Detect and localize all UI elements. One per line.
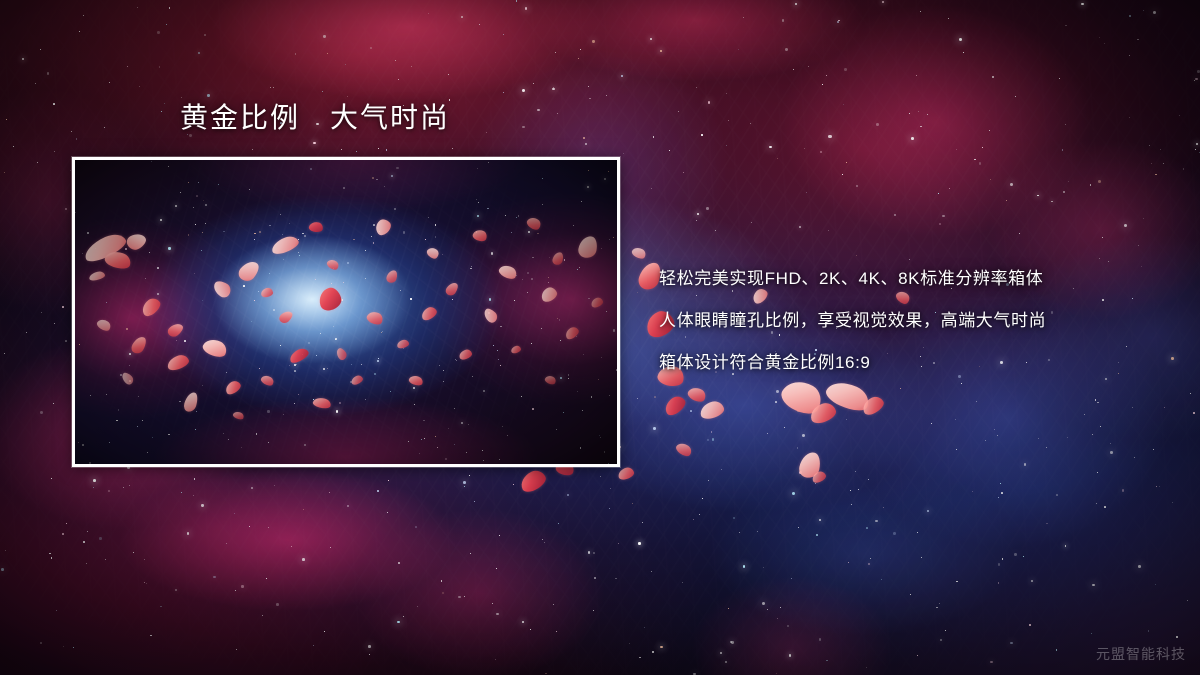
star xyxy=(791,578,792,579)
star xyxy=(936,607,937,608)
star xyxy=(777,158,778,159)
star xyxy=(329,492,330,493)
star xyxy=(989,130,990,131)
star xyxy=(398,79,399,80)
star xyxy=(730,641,733,644)
star xyxy=(637,398,638,399)
star xyxy=(368,645,371,648)
flower-petal xyxy=(811,470,828,485)
star xyxy=(955,419,956,420)
star xyxy=(1199,152,1200,153)
star xyxy=(415,526,417,528)
star xyxy=(777,618,778,619)
star xyxy=(621,75,623,77)
star xyxy=(1193,412,1195,414)
star xyxy=(76,138,77,139)
star xyxy=(1,568,4,571)
star xyxy=(1019,233,1020,234)
star xyxy=(1065,124,1066,125)
star xyxy=(567,494,569,496)
star xyxy=(708,480,709,481)
star xyxy=(71,131,72,132)
star xyxy=(553,604,554,605)
star xyxy=(5,550,6,551)
star xyxy=(1065,25,1066,26)
star xyxy=(378,148,379,149)
star xyxy=(1014,553,1017,556)
star xyxy=(693,519,694,520)
star xyxy=(236,649,237,650)
star xyxy=(715,230,716,231)
star xyxy=(51,478,52,479)
flower-petal xyxy=(860,394,886,418)
star xyxy=(804,148,805,149)
flower-petal xyxy=(517,467,548,495)
star xyxy=(54,323,55,324)
star xyxy=(939,603,940,604)
star xyxy=(738,49,739,50)
star xyxy=(697,213,699,215)
star xyxy=(592,40,594,42)
star xyxy=(731,641,733,643)
photo-vignette xyxy=(75,160,617,464)
star xyxy=(428,13,429,14)
star xyxy=(1092,434,1093,435)
star xyxy=(750,123,751,124)
star xyxy=(654,396,656,398)
star xyxy=(882,1,884,3)
star xyxy=(866,667,867,668)
star xyxy=(6,119,7,120)
star xyxy=(870,558,871,559)
star xyxy=(776,390,779,393)
body-line-3: 箱体设计符合黄金比例16:9 xyxy=(659,342,1179,384)
star xyxy=(1002,558,1004,560)
star xyxy=(270,87,271,88)
star xyxy=(522,126,525,129)
star xyxy=(868,479,869,480)
star xyxy=(725,661,727,663)
star xyxy=(347,505,349,507)
star xyxy=(837,21,840,24)
star xyxy=(637,292,638,293)
star xyxy=(992,76,993,77)
star xyxy=(858,489,859,490)
star xyxy=(492,603,493,604)
star xyxy=(855,471,856,472)
star xyxy=(802,434,805,437)
star xyxy=(775,401,777,403)
star xyxy=(678,111,679,112)
star xyxy=(144,582,145,583)
star xyxy=(739,532,740,533)
body-line-1: 轻松完美实现FHD、2K、4K、8K标准分辨率箱体 xyxy=(659,258,1179,300)
star xyxy=(815,483,816,484)
star xyxy=(161,111,162,112)
star xyxy=(387,512,388,513)
star xyxy=(651,188,652,189)
star xyxy=(1129,15,1131,17)
star xyxy=(40,642,42,644)
star xyxy=(797,410,799,412)
star xyxy=(552,88,554,90)
star xyxy=(1155,174,1157,176)
star xyxy=(1092,584,1095,587)
star xyxy=(516,0,517,1)
star xyxy=(976,401,977,402)
star xyxy=(56,610,57,611)
star xyxy=(1104,506,1106,508)
star xyxy=(846,162,847,163)
star xyxy=(711,431,712,432)
star xyxy=(51,557,52,558)
page-title: 黄金比例 大气时尚 xyxy=(180,101,450,135)
watermark-label: 元盟智能科技 xyxy=(1096,645,1186,663)
star xyxy=(187,532,190,535)
flower-petal xyxy=(630,245,647,261)
star xyxy=(793,69,794,70)
star xyxy=(1084,414,1085,415)
star xyxy=(866,527,868,529)
body-line-2: 人体眼睛瞳孔比例，享受视觉效果，高端大气时尚 xyxy=(659,300,1179,342)
star xyxy=(702,498,703,499)
star xyxy=(639,657,641,659)
star xyxy=(1091,633,1092,634)
star xyxy=(652,651,653,652)
star xyxy=(1095,399,1096,400)
star xyxy=(609,508,610,509)
star xyxy=(838,20,840,22)
star xyxy=(1059,78,1060,79)
star xyxy=(398,562,400,564)
star xyxy=(558,523,559,524)
star xyxy=(1056,494,1058,496)
star xyxy=(53,103,55,105)
star xyxy=(851,504,852,505)
star xyxy=(784,427,785,428)
star xyxy=(1153,449,1154,450)
star xyxy=(181,492,182,493)
star xyxy=(370,47,372,49)
star xyxy=(998,563,1001,566)
star xyxy=(797,447,798,448)
star xyxy=(918,111,919,112)
star xyxy=(533,83,534,84)
flower-petal xyxy=(808,400,838,425)
star xyxy=(1038,438,1039,439)
star xyxy=(1096,503,1097,504)
star xyxy=(83,15,84,16)
star xyxy=(743,565,746,568)
star xyxy=(893,532,896,535)
star xyxy=(557,113,558,114)
star xyxy=(166,24,167,25)
star xyxy=(62,533,64,535)
star xyxy=(757,531,758,532)
photo-image xyxy=(75,160,617,464)
star xyxy=(86,563,87,564)
star xyxy=(83,541,85,543)
star xyxy=(588,551,590,553)
star xyxy=(1176,636,1177,637)
star xyxy=(706,207,709,210)
star xyxy=(448,74,449,75)
star xyxy=(157,31,160,34)
star xyxy=(819,519,821,521)
star xyxy=(610,488,611,489)
star xyxy=(615,578,617,580)
star xyxy=(37,162,38,163)
star xyxy=(469,475,470,476)
star xyxy=(139,86,140,87)
star xyxy=(701,134,702,135)
star xyxy=(1104,43,1105,44)
star xyxy=(41,312,42,313)
star xyxy=(1143,218,1145,220)
star xyxy=(1159,486,1160,487)
star xyxy=(945,630,946,631)
star xyxy=(808,66,809,67)
star xyxy=(464,486,465,487)
star xyxy=(1102,237,1103,238)
star xyxy=(201,504,203,506)
star xyxy=(1063,191,1064,192)
star xyxy=(990,179,991,180)
star xyxy=(751,222,752,223)
star xyxy=(266,578,267,579)
body-text-block: 轻松完美实现FHD、2K、4K、8K标准分辨率箱体 人体眼睛瞳孔比例，享受视觉效… xyxy=(659,258,1179,384)
star xyxy=(875,520,878,523)
star xyxy=(144,559,145,560)
star xyxy=(137,7,138,8)
star xyxy=(1160,149,1161,150)
star xyxy=(40,49,42,51)
star xyxy=(776,673,777,674)
star xyxy=(4,172,5,173)
star xyxy=(198,52,200,54)
star xyxy=(927,114,928,115)
star xyxy=(822,84,823,85)
star xyxy=(1195,78,1197,80)
star xyxy=(1006,200,1007,201)
star xyxy=(712,438,714,440)
star xyxy=(589,98,590,99)
star xyxy=(70,170,71,171)
star xyxy=(588,86,589,87)
star xyxy=(1149,145,1150,146)
star xyxy=(241,585,243,587)
star xyxy=(65,208,67,210)
star xyxy=(1068,181,1069,182)
star xyxy=(642,522,643,523)
star xyxy=(1129,117,1130,118)
star xyxy=(942,215,944,217)
star xyxy=(1031,580,1033,582)
star xyxy=(769,146,772,149)
star xyxy=(994,429,995,430)
star xyxy=(632,503,633,504)
star xyxy=(323,35,325,37)
star xyxy=(782,19,784,21)
star xyxy=(1046,523,1048,525)
star xyxy=(660,50,662,52)
star xyxy=(931,423,932,424)
star xyxy=(146,583,147,584)
star xyxy=(105,559,106,560)
star xyxy=(35,83,36,84)
star xyxy=(690,410,692,412)
star xyxy=(806,192,808,194)
star xyxy=(799,471,802,474)
star xyxy=(356,151,357,152)
star xyxy=(66,523,67,524)
star xyxy=(644,627,646,629)
star xyxy=(653,136,654,137)
star xyxy=(819,638,821,640)
star xyxy=(79,31,80,32)
presentation-slide: 黄金比例 大气时尚 轻松完美实现FHD、2K、4K、8K标准分辨率箱体 人体眼睛… xyxy=(0,0,1200,675)
star xyxy=(998,497,999,498)
star xyxy=(997,435,998,436)
star xyxy=(495,659,496,660)
star xyxy=(780,607,781,608)
star xyxy=(1062,149,1063,150)
star xyxy=(1010,183,1013,186)
star xyxy=(916,75,917,76)
star xyxy=(302,558,305,561)
star xyxy=(65,340,67,342)
star xyxy=(1164,407,1165,408)
star xyxy=(963,52,964,53)
star xyxy=(956,149,957,150)
star xyxy=(369,654,370,655)
star xyxy=(303,509,304,510)
star xyxy=(26,332,27,333)
star xyxy=(1143,10,1144,11)
star xyxy=(274,485,275,486)
star xyxy=(1172,502,1174,504)
star xyxy=(917,655,918,656)
star xyxy=(496,568,497,569)
star xyxy=(651,571,652,572)
star xyxy=(1155,584,1156,585)
star xyxy=(1190,393,1191,394)
star xyxy=(395,60,396,61)
star xyxy=(767,433,768,434)
star xyxy=(252,149,253,150)
star xyxy=(496,613,498,615)
star xyxy=(653,427,656,430)
star xyxy=(846,419,847,420)
star xyxy=(54,151,55,152)
star xyxy=(545,673,547,675)
star xyxy=(530,629,531,630)
star xyxy=(1138,565,1141,568)
star xyxy=(920,11,921,12)
star xyxy=(726,145,727,146)
star xyxy=(795,3,797,5)
star xyxy=(104,127,105,128)
star xyxy=(194,478,195,479)
star xyxy=(618,543,619,544)
star xyxy=(910,594,911,595)
star xyxy=(207,94,210,97)
star xyxy=(920,126,922,128)
star xyxy=(956,449,957,450)
star xyxy=(848,562,849,563)
star xyxy=(726,93,727,94)
star xyxy=(133,552,134,553)
star xyxy=(593,610,594,611)
star xyxy=(461,16,463,18)
star xyxy=(1097,402,1098,403)
star xyxy=(193,495,194,496)
star xyxy=(650,38,652,40)
star xyxy=(1037,195,1039,197)
star xyxy=(235,590,236,591)
star xyxy=(580,49,581,50)
star xyxy=(883,507,884,508)
star xyxy=(73,647,74,648)
star xyxy=(464,596,465,597)
star xyxy=(843,104,844,105)
star xyxy=(49,553,50,554)
star xyxy=(164,103,165,104)
star xyxy=(600,476,601,477)
star xyxy=(583,137,585,139)
star xyxy=(1196,143,1198,145)
star xyxy=(1090,184,1092,186)
star xyxy=(728,120,729,121)
star xyxy=(911,137,914,140)
star xyxy=(40,411,43,414)
star xyxy=(1098,180,1101,183)
star xyxy=(486,132,487,133)
star xyxy=(956,581,958,583)
star xyxy=(503,34,504,35)
star xyxy=(816,534,818,536)
star xyxy=(99,537,102,540)
star xyxy=(927,510,929,512)
star xyxy=(826,660,827,661)
star xyxy=(979,162,981,164)
flower-petal xyxy=(698,399,725,420)
star xyxy=(669,150,670,151)
star xyxy=(785,48,788,51)
star xyxy=(22,58,24,60)
star xyxy=(160,606,162,608)
star xyxy=(347,96,349,98)
star xyxy=(606,95,607,96)
star xyxy=(708,101,711,104)
star xyxy=(327,53,328,54)
star xyxy=(894,214,895,215)
star xyxy=(108,490,110,492)
star xyxy=(842,174,843,175)
star xyxy=(917,532,918,533)
star xyxy=(921,557,922,558)
star xyxy=(474,501,475,502)
star xyxy=(555,52,556,53)
star xyxy=(949,188,950,189)
star xyxy=(411,66,412,67)
star xyxy=(129,485,130,486)
star xyxy=(53,403,54,404)
star xyxy=(767,609,768,610)
star xyxy=(828,135,831,138)
flower-petal xyxy=(798,450,823,480)
star xyxy=(856,255,857,256)
